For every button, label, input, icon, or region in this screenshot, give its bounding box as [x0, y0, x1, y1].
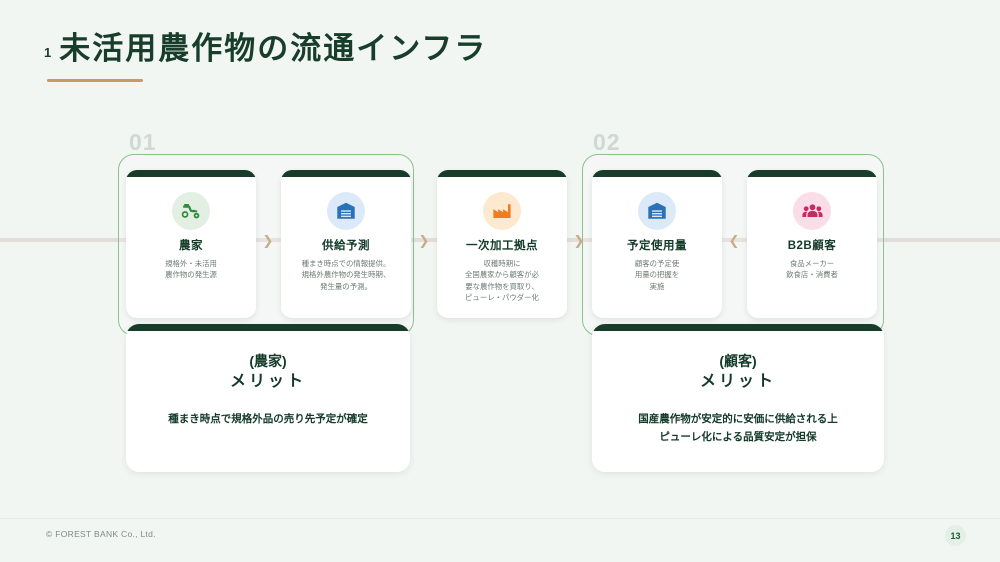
flow-arrow-right-3: ❯	[572, 232, 586, 248]
title-underline-accent	[47, 79, 143, 82]
flow-node-title: 農家	[133, 237, 249, 253]
flow-node-title: 供給予測	[288, 237, 404, 253]
flow-node-processing-hub[interactable]: 一次加工拠点 収穫時期に 全国農家から顧客が必 要な農作物を買取り、 ピューレ・…	[437, 170, 567, 318]
merit-card-farmer[interactable]: (農家) メリット 種まき時点で規格外品の売り先予定が確定	[126, 324, 410, 472]
merit-subject: (顧客)	[614, 352, 862, 371]
flow-arrow-left-1: ❮	[727, 232, 741, 248]
flow-node-farmer[interactable]: 農家 規格外・未活用 農作物の発生源	[126, 170, 256, 318]
flow-node-supply-forecast[interactable]: 供給予測 種まき時点での情報提供。 規格外農作物の発生時期、 発生量の予測。	[281, 170, 411, 318]
flow-diagram: 01 02 農家 規格外・未活用 農作物の発生源	[0, 122, 1000, 332]
merit-heading: メリット	[614, 371, 862, 393]
flow-group-02-label: 02	[593, 129, 621, 156]
flow-node-desc: 規格外・未活用 農作物の発生源	[133, 258, 249, 281]
flow-node-title: 一次加工拠点	[444, 237, 560, 253]
flow-node-desc: 種まき時点での情報提供。 規格外農作物の発生時期、 発生量の予測。	[288, 258, 404, 292]
flow-node-title: B2B顧客	[754, 237, 870, 253]
factory-icon	[483, 192, 521, 230]
merit-heading: メリット	[148, 371, 388, 393]
flow-arrow-right-1: ❯	[261, 232, 275, 248]
merit-body: 種まき時点で規格外品の売り先予定が確定	[148, 411, 388, 429]
flow-node-title: 予定使用量	[599, 237, 715, 253]
merit-body: 国産農作物が安定的に安価に供給される上 ピューレ化による品質安定が担保	[614, 411, 862, 447]
people-group-icon	[793, 192, 831, 230]
title-number: 1	[44, 45, 51, 66]
flow-node-desc: 顧客の予定使 用量の把握を 実施	[599, 258, 715, 292]
page-number-badge: 13	[945, 525, 966, 546]
tractor-icon	[172, 192, 210, 230]
flow-group-01-label: 01	[129, 129, 157, 156]
flow-node-desc: 食品メーカー 飲食店・消費者	[754, 258, 870, 281]
warehouse-icon	[638, 192, 676, 230]
page-title: 未活用農作物の流通インフラ	[59, 32, 487, 66]
warehouse-icon	[327, 192, 365, 230]
merit-subject: (農家)	[148, 352, 388, 371]
flow-node-desc: 収穫時期に 全国農家から顧客が必 要な農作物を買取り、 ピューレ・パウダー化	[444, 258, 560, 304]
flow-arrow-right-2: ❯	[417, 232, 431, 248]
merit-card-customer[interactable]: (顧客) メリット 国産農作物が安定的に安価に供給される上 ピューレ化による品質…	[592, 324, 884, 472]
slide-header: 1 未活用農作物の流通インフラ	[44, 32, 487, 82]
footer-divider	[0, 518, 1000, 519]
title-row: 1 未活用農作物の流通インフラ	[44, 32, 487, 66]
flow-node-planned-usage[interactable]: 予定使用量 顧客の予定使 用量の把握を 実施	[592, 170, 722, 318]
flow-node-b2b-customer[interactable]: B2B顧客 食品メーカー 飲食店・消費者	[747, 170, 877, 318]
footer-copyright: © FOREST BANK Co., Ltd.	[46, 529, 156, 539]
